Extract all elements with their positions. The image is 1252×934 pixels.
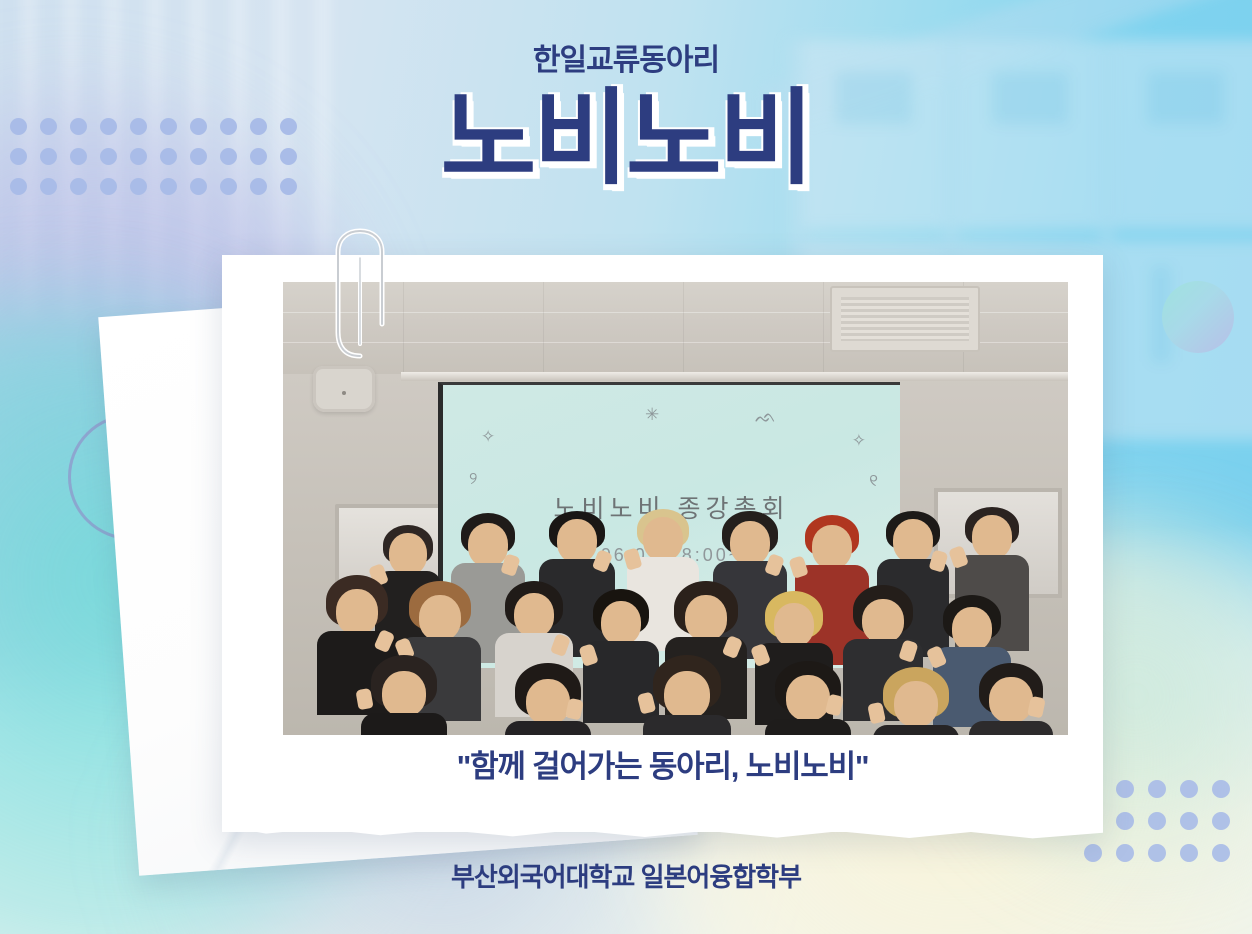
person <box>643 655 731 735</box>
person <box>873 667 959 735</box>
dot <box>1116 812 1134 830</box>
dot <box>1148 812 1166 830</box>
dot <box>1180 812 1198 830</box>
poster-eyebrow: 한일교류동아리 <box>0 44 1252 77</box>
person <box>765 661 851 735</box>
dot <box>1212 812 1230 830</box>
dot <box>1116 780 1134 798</box>
ceiling-rail <box>401 372 1068 381</box>
student-group <box>283 525 1068 735</box>
dot <box>1180 780 1198 798</box>
sparkle-icon: ୨ <box>469 469 477 489</box>
person <box>969 663 1053 735</box>
person <box>505 663 591 735</box>
sparkle-icon: ✳ <box>645 405 659 425</box>
wall-speaker <box>313 366 375 412</box>
dot <box>1212 780 1230 798</box>
paperclip-icon <box>334 228 386 360</box>
person <box>361 655 447 735</box>
poster-canvas: 한일교류동아리 노비노비 ✧ ୨ <box>0 0 1252 934</box>
page-title: 노비노비 <box>0 87 1252 191</box>
group-photo: ✧ ୨ ✧ ୧ ✳ ᨒ 노비노비 종강총회 06.02 18:00~ <box>283 282 1068 735</box>
gradient-circle-decoration <box>1162 281 1234 353</box>
sparkle-icon: ୧ <box>869 471 878 491</box>
poster-header: 한일교류동아리 노비노비 <box>0 44 1252 191</box>
sparkle-icon: ᨒ <box>755 407 776 427</box>
photo-ceiling <box>283 282 1068 374</box>
air-conditioner-unit <box>830 286 980 352</box>
photo-caption: "함께 걸어가는 동아리, 노비노비" <box>222 741 1103 786</box>
dot <box>1148 780 1166 798</box>
sparkle-icon: ✧ <box>481 427 495 447</box>
sparkle-icon: ✧ <box>852 431 866 451</box>
